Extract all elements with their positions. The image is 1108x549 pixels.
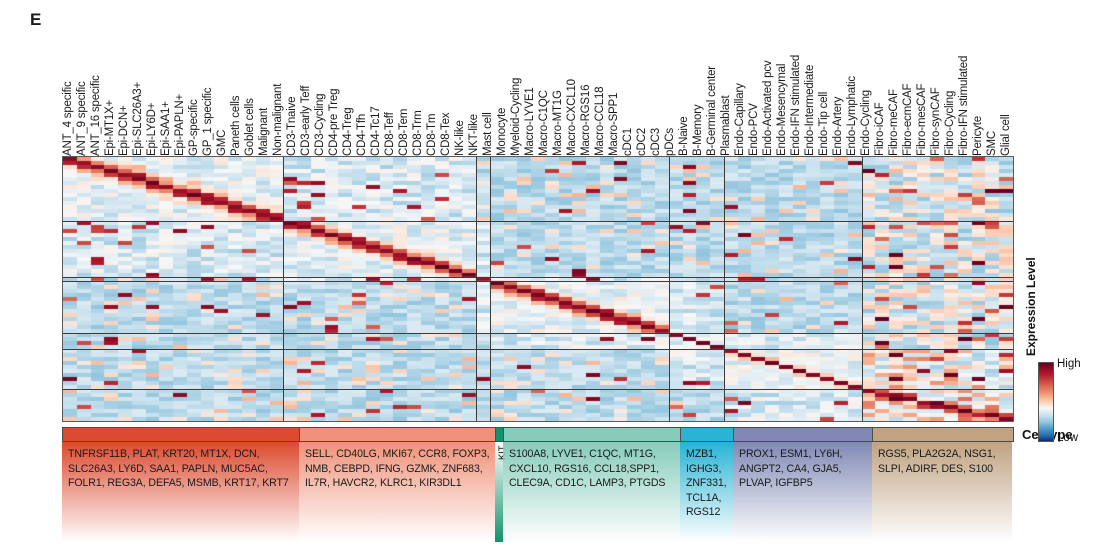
figure-panel: E ANT_4 specificANT_9 specificANT_16 spe…: [0, 0, 1108, 549]
column-labels: ANT_4 specificANT_9 specificANT_16 speci…: [62, 0, 1014, 156]
column-label: Endo-Tip cell: [820, 92, 829, 156]
heatmap-canvas: [63, 157, 1013, 421]
heatmap-row-divider: [63, 221, 1013, 222]
celltype-segment: [873, 428, 1013, 441]
column-label: Plasmablast: [722, 96, 731, 156]
marker-gene-list: S100A8, LYVE1, C1QC, MT1G, CXCL10, RGS16…: [503, 442, 680, 542]
heatmap-column-divider: [490, 157, 491, 421]
column-label: GMC: [218, 130, 227, 156]
column-label: ANT_9 specific: [78, 81, 87, 156]
column-label: Epi-PAPLN+: [176, 94, 185, 156]
column-label: Endo-IFN stimulated: [792, 55, 801, 156]
column-label: NK-like: [456, 120, 465, 156]
column-label: Endo-Capillary: [736, 83, 745, 156]
heatmap-column-divider: [669, 157, 670, 421]
column-label: B-Memory: [694, 105, 703, 156]
column-label: Endo-Cycling: [862, 90, 871, 156]
column-label: Monocyte: [498, 108, 507, 156]
color-bar: [1038, 362, 1054, 442]
column-label: Macro-CCL18: [596, 87, 605, 156]
column-label: Endo-Mesencymal: [778, 64, 787, 156]
column-label: Pericyte: [974, 116, 983, 156]
column-label: Epi-DCN+: [120, 106, 129, 156]
column-label: CD4-Tc17: [372, 106, 381, 156]
column-label: Macro-C1QC: [540, 90, 549, 156]
column-label: Macro-RGS16: [582, 85, 591, 156]
column-label: Fibro-ecmCAF: [904, 84, 913, 156]
column-label: cDC2: [638, 128, 647, 156]
column-label: GP_1 specific: [204, 88, 213, 156]
heatmap-row-divider: [63, 333, 1013, 334]
column-label: pDCs: [666, 128, 675, 156]
column-label: Macro-SPP1: [610, 93, 619, 156]
column-label: Epi-LY6D+: [148, 103, 157, 156]
heatmap-column-divider: [476, 157, 477, 421]
column-label: Malignant: [260, 108, 269, 156]
marker-gene-list: RGS5, PLA2G2A, NSG1, SLPI, ADIRF, DES, S…: [872, 442, 1012, 542]
legend-low-label: Low: [1057, 432, 1078, 444]
marker-gene-list: MZB1, IGHG3, ZNF331, TCL1A, RGS12: [680, 442, 733, 542]
marker-gene-list: TNFRSF11B, PLAT, KRT20, MT1X, DCN, SLC26…: [62, 442, 299, 542]
panel-letter: E: [30, 10, 41, 30]
column-label: Fibro-Cycling: [946, 91, 955, 156]
column-label: SMC: [988, 131, 997, 156]
column-label: CD4-Treg: [344, 108, 353, 156]
column-label: Fibro-iCAF: [876, 102, 885, 156]
column-label: CD8-Tm: [428, 114, 437, 156]
column-label: B-Germinal center: [708, 66, 717, 156]
heatmap-row-divider: [63, 281, 1013, 282]
column-label: Endo-Artery: [834, 97, 843, 156]
column-label: Endo-Activated pcv: [764, 61, 773, 156]
column-label: GP-specific: [190, 99, 199, 156]
column-label: CD8-Trm: [414, 111, 423, 156]
column-label: Paneth cells: [232, 96, 241, 156]
heatmap-column-divider: [724, 157, 725, 421]
column-label: Epi-MT1X+: [106, 100, 115, 156]
column-label: Macro-CXCL10: [568, 79, 577, 156]
column-label: CD8-Tem: [400, 109, 409, 156]
celltype-segment: [734, 428, 873, 441]
marker-gene-list: KIT: [495, 442, 503, 542]
expression-legend: Expression Level High Low: [1024, 224, 1108, 424]
column-label: CD3-Tnaive: [288, 97, 297, 156]
column-label: Macro-MT1G: [554, 90, 563, 156]
column-label: Mast cell: [484, 112, 493, 156]
column-label: Macro-LYVE1: [526, 87, 535, 156]
column-label: Myeloid-Cycling: [512, 78, 521, 156]
column-label: ANT_4 specific: [64, 81, 73, 156]
column-label: Endo-Intermediate: [806, 65, 815, 156]
celltype-segment: [496, 428, 504, 441]
heatmap-row-divider: [63, 349, 1013, 350]
column-label: Fibro-synCAF: [932, 87, 941, 156]
column-label: CD4-pre Treg: [330, 89, 339, 156]
column-label: Fibro-IFN stimulated: [960, 56, 969, 156]
column-label: Fibro-mesCAF: [918, 84, 927, 156]
column-label: Endo-Lymphatic: [848, 76, 857, 156]
marker-gene-blocks: TNFRSF11B, PLAT, KRT20, MT1X, DCN, SLC26…: [62, 442, 1014, 542]
column-label: Non-malignant: [274, 84, 283, 156]
marker-gene-list: SELL, CD40LG, MKI67, CCR8, FOXP3, NMB, C…: [299, 442, 495, 542]
celltype-segment: [504, 428, 681, 441]
column-label: Fibro-meCAF: [890, 89, 899, 156]
column-label: cDC3: [652, 128, 661, 156]
column-label: ANT_16 specific: [92, 75, 101, 156]
column-label: CD4-Tfh: [358, 114, 367, 156]
column-label: CD8-Tex: [442, 113, 451, 156]
column-label: NKT-like: [470, 114, 479, 156]
heatmap-row-divider: [63, 277, 1013, 278]
column-label: Epi-SAA1+: [162, 101, 171, 156]
heatmap-row-divider: [63, 389, 1013, 390]
column-label: Glial cell: [1002, 115, 1011, 156]
heatmap: [62, 156, 1014, 422]
column-label: Goblet cells: [246, 98, 255, 156]
heatmap-column-divider: [283, 157, 284, 421]
marker-gene-list: PROX1, ESM1, LY6H, ANGPT2, CA4, GJA5, PL…: [733, 442, 872, 542]
celltype-annotation-bar: [62, 427, 1014, 442]
celltype-segment: [63, 428, 300, 441]
column-label: CD8-Teff: [386, 112, 395, 156]
column-label: Epi-SLC26A3+: [134, 82, 143, 156]
legend-high-label: High: [1057, 358, 1081, 370]
column-label: cDC1: [624, 128, 633, 156]
column-label: CD3-Cycling: [316, 94, 325, 156]
celltype-segment: [300, 428, 496, 441]
column-label: CD3-early Teff: [302, 86, 311, 156]
legend-title: Expression Level: [1024, 257, 1038, 356]
column-label: Endo-PCV: [750, 103, 759, 156]
celltype-segment: [681, 428, 734, 441]
column-label: B-Naive: [680, 116, 689, 156]
heatmap-column-divider: [862, 157, 863, 421]
